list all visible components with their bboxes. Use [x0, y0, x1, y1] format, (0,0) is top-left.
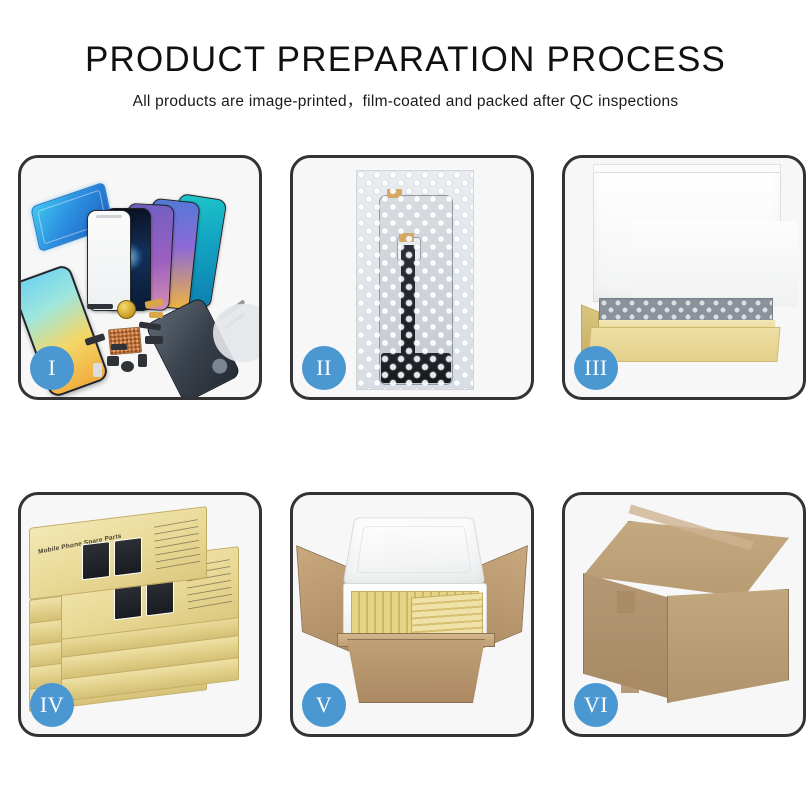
carton-front-wall: [341, 639, 491, 703]
spare-part: [111, 344, 127, 350]
bubble-wrap-bag: [356, 170, 474, 390]
step-badge: I: [30, 346, 74, 390]
process-step-1: I: [18, 155, 262, 400]
foam-sheet: [632, 221, 798, 307]
phone-blank-glass: [87, 210, 131, 311]
carton-right-face: [667, 589, 789, 703]
step-badge: III: [574, 346, 618, 390]
box-yellow-front: [587, 327, 780, 362]
box-window-phone: [114, 537, 142, 576]
step-badge: V: [302, 683, 346, 727]
spare-part: [107, 356, 119, 366]
spare-part: [93, 363, 102, 377]
box-spec-text: [154, 519, 200, 570]
carton-tape-patch: [617, 591, 635, 613]
carton-tape-patch: [621, 671, 639, 693]
spare-part: [87, 304, 113, 309]
spare-part: [121, 361, 134, 372]
box-window-phone: [82, 541, 110, 580]
process-step-3: III: [562, 155, 806, 400]
process-step-5: V: [290, 492, 534, 737]
step-badge: II: [302, 346, 346, 390]
spare-part: [149, 312, 163, 318]
process-step-6: VI: [562, 492, 806, 737]
box-white-lid: [593, 172, 781, 302]
step-badge: VI: [574, 683, 618, 727]
process-step-grid: I II: [18, 155, 806, 737]
chip-grid-part: [108, 327, 142, 356]
page-header: PRODUCT PREPARATION PROCESS All products…: [0, 0, 811, 111]
process-step-4: Mobile Phone Spare Parts Mobile Phone Sp…: [18, 492, 262, 737]
bubble-texture: [357, 171, 473, 389]
page-subtitle: All products are image-printed，film-coat…: [0, 89, 811, 111]
page-title: PRODUCT PREPARATION PROCESS: [0, 42, 811, 79]
process-step-2: II: [290, 155, 534, 400]
coil-part: [117, 300, 136, 319]
step-badge: IV: [30, 683, 74, 727]
spare-part: [138, 354, 147, 367]
foam-box-lid: [343, 517, 486, 584]
spare-part: [145, 336, 163, 344]
